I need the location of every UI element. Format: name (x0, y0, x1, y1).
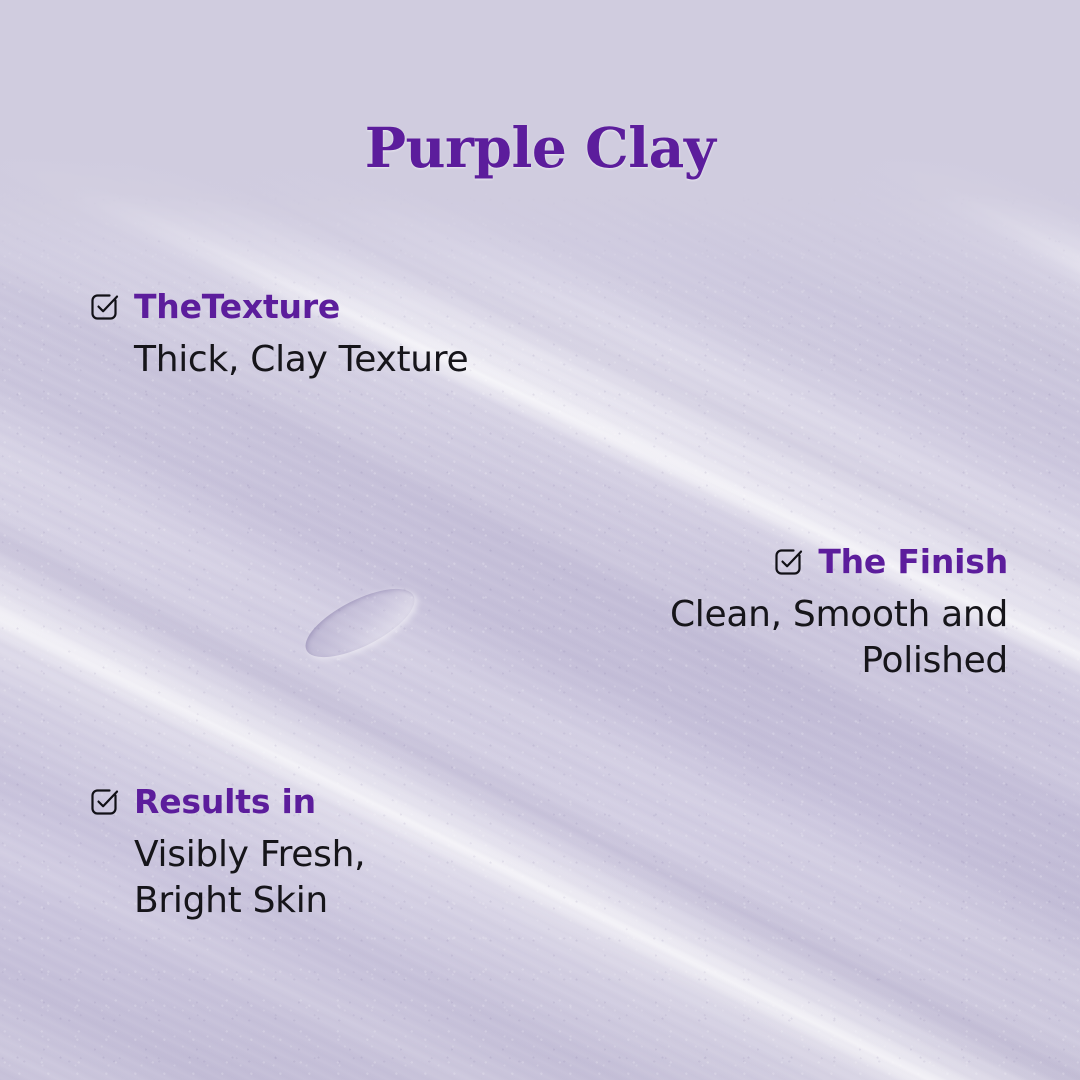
check-circle-square-icon (88, 291, 120, 323)
product-feature-card: Purple Clay TheTexture Thick, Clay Textu… (0, 0, 1080, 1080)
feature-title: TheTexture (134, 290, 340, 323)
feature-heading-row: Results in (88, 785, 365, 818)
feature-the-texture: TheTexture Thick, Clay Texture (88, 290, 468, 383)
check-circle-square-icon (772, 546, 804, 578)
feature-heading-row: TheTexture (88, 290, 468, 323)
feature-results-in: Results in Visibly Fresh, Bright Skin (88, 785, 365, 924)
feature-the-finish: The Finish Clean, Smooth and Polished (670, 545, 1008, 684)
check-circle-square-icon (88, 786, 120, 818)
feature-title: Results in (134, 785, 316, 818)
page-title: Purple Clay (0, 115, 1080, 180)
feature-title: The Finish (818, 545, 1008, 578)
feature-description: Visibly Fresh, Bright Skin (88, 832, 365, 924)
feature-description: Clean, Smooth and Polished (670, 592, 1008, 684)
feature-heading-row: The Finish (670, 545, 1008, 578)
feature-description: Thick, Clay Texture (88, 337, 468, 383)
